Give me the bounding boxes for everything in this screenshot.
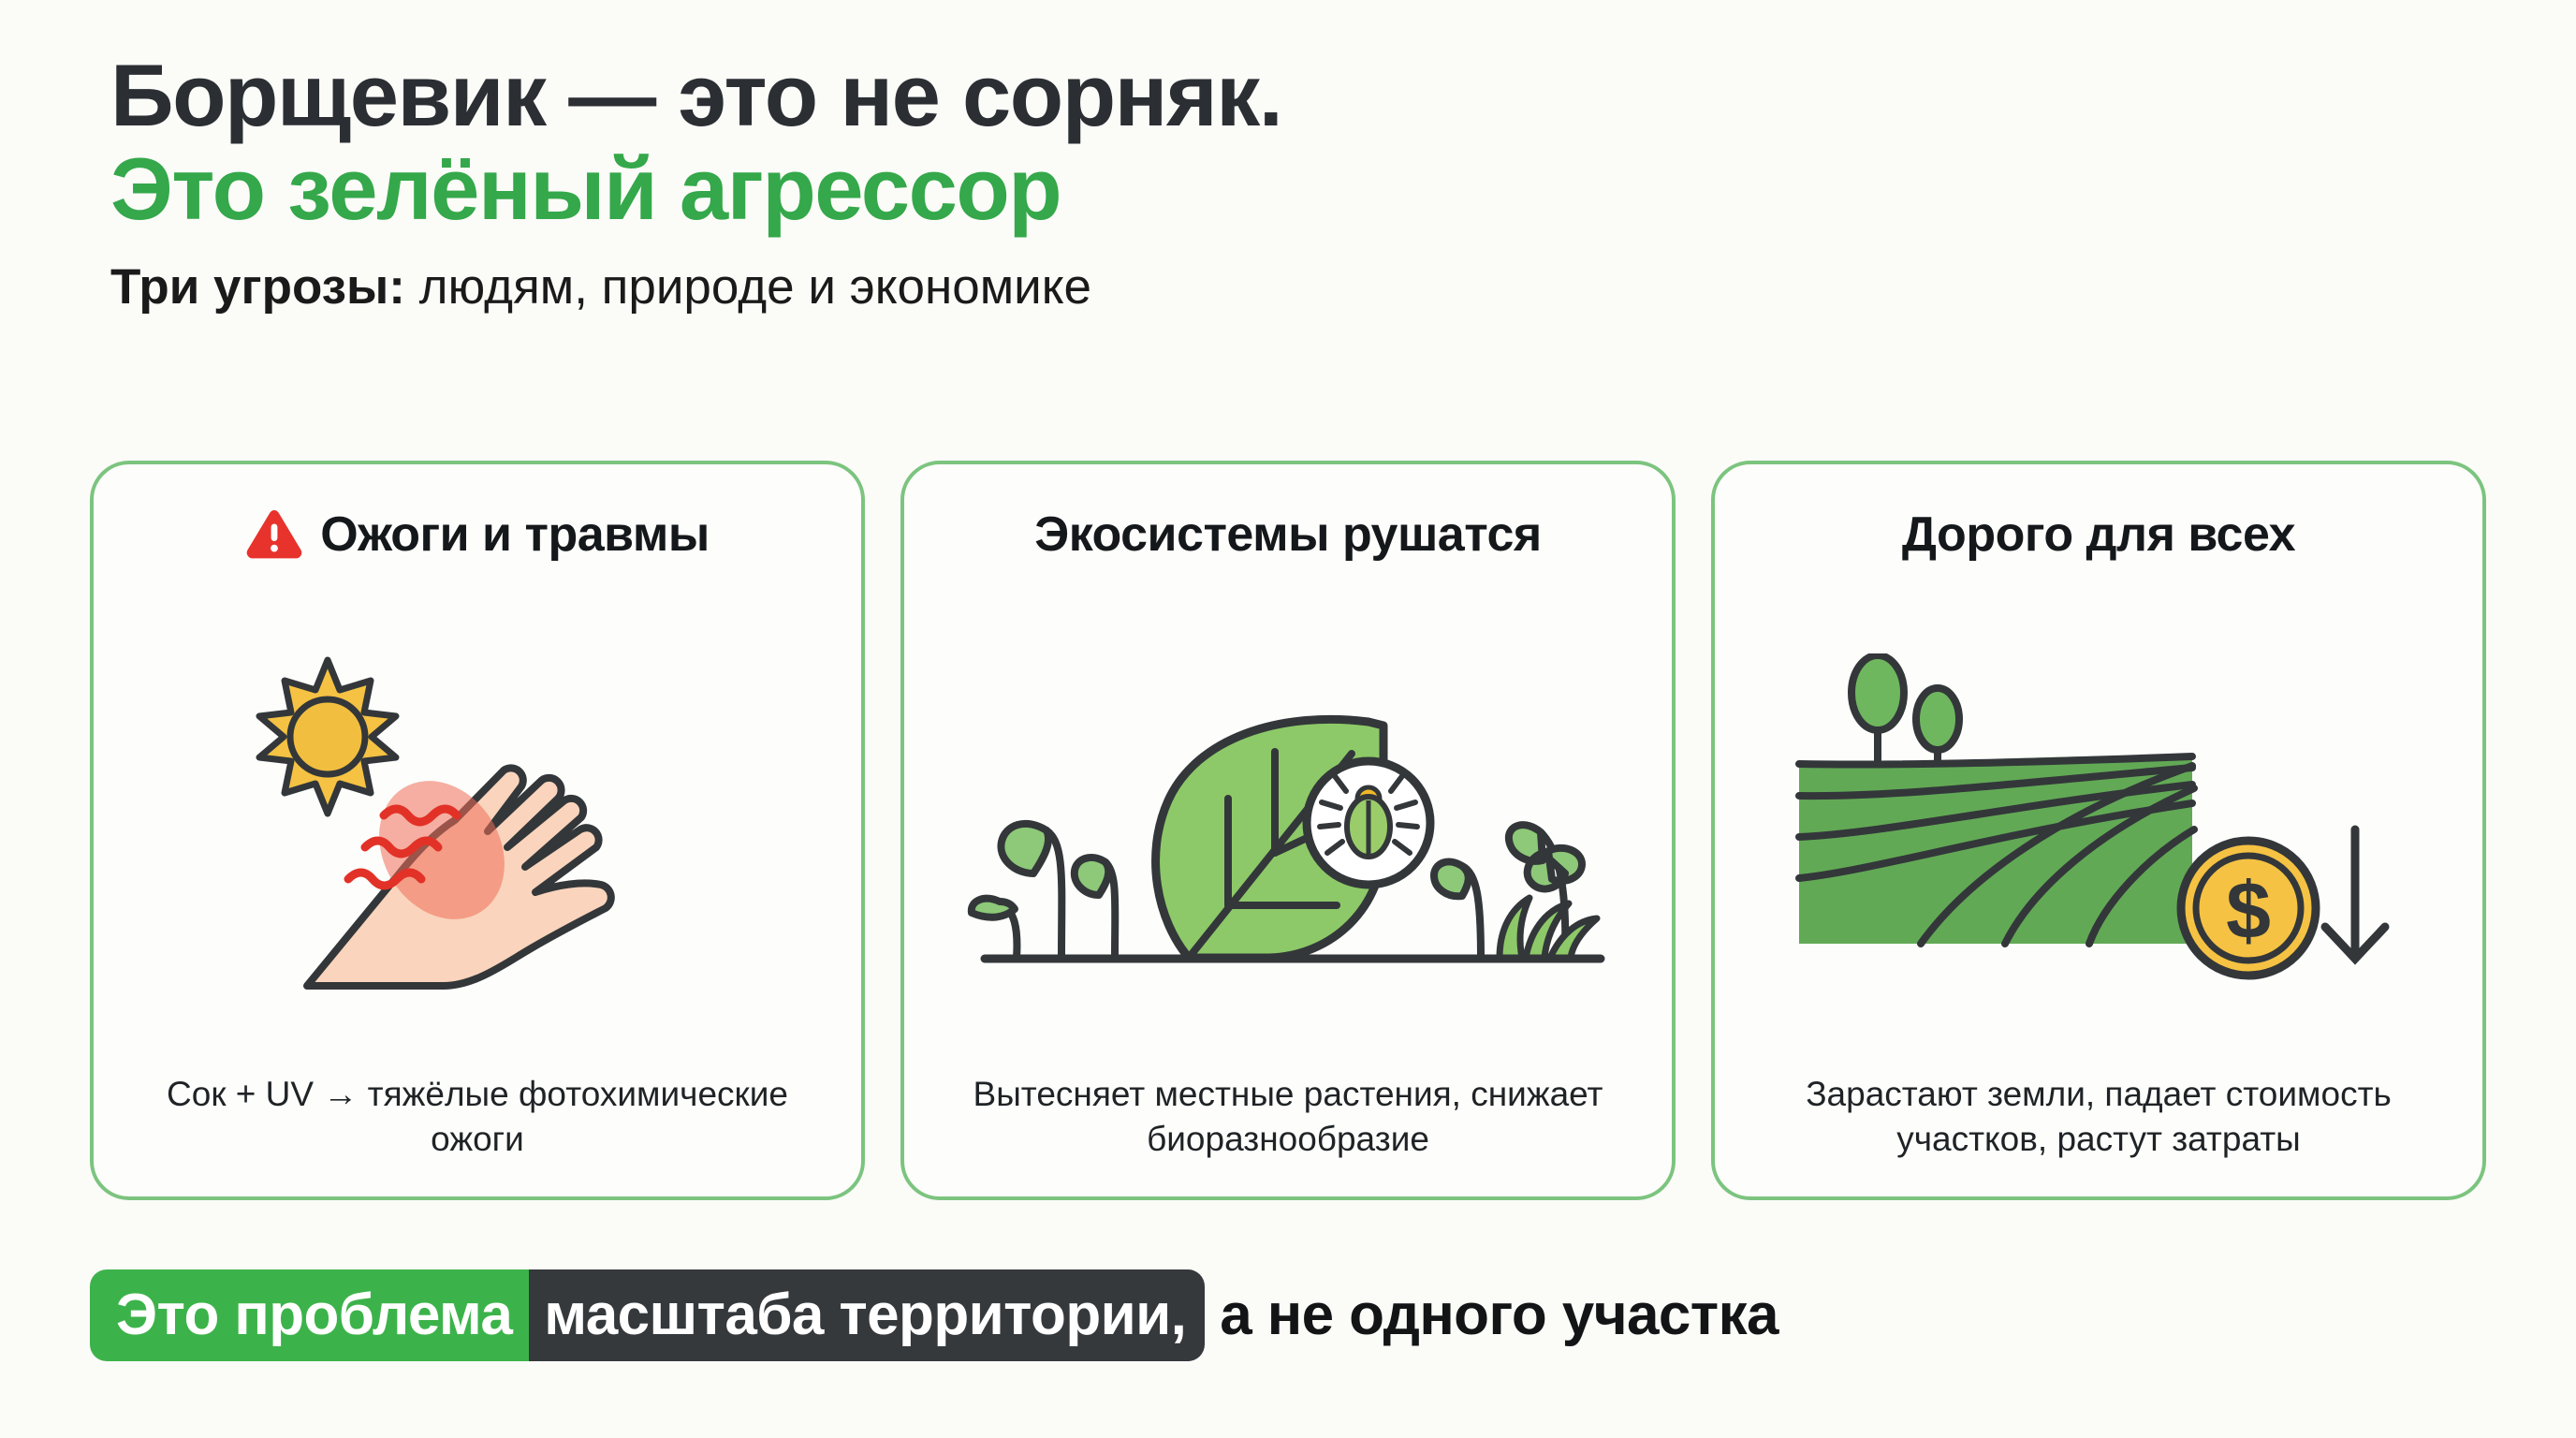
economy-art-svg: $: [1780, 653, 2417, 990]
fields-icon: [1799, 756, 2194, 944]
subtitle-strong: Три угрозы:: [110, 259, 405, 315]
sprout-leaf-icon: [1075, 858, 1109, 895]
ecosystem-art-svg: [960, 639, 1616, 1005]
farm-fields-coin-down-arrow-illustration: $: [1739, 571, 2458, 1072]
page-title-line-1: Борщевик — это не сорняк.: [110, 49, 2469, 142]
beetle-magnifier-icon: [1307, 761, 1430, 885]
banner-segment-green: Это проблема: [90, 1269, 529, 1361]
sprout-leaf-icon: [1001, 824, 1048, 873]
card-description: Зарастают земли, падает стоимость участк…: [1739, 1072, 2458, 1168]
sprout-leaf-icon: [972, 898, 1015, 917]
page-subtitle: Три угрозы: людям, природе и экономике: [110, 257, 2469, 317]
card-burns-and-injuries: Ожоги и травмы: [90, 461, 865, 1200]
grass-tuft-icon: [1500, 898, 1597, 958]
banner-segment-dark: масштаба территории,: [529, 1269, 1205, 1361]
card-title: Дорого для всех: [1902, 506, 2295, 563]
card-expensive-for-everyone: Дорого для всех: [1711, 461, 2486, 1200]
sun-icon: [259, 660, 396, 814]
card-header: Ожоги и травмы: [118, 498, 837, 571]
banner-segment-plain: а не одного участка: [1205, 1269, 1778, 1361]
card-header: Дорого для всех: [1739, 498, 2458, 571]
down-arrow-icon: [2325, 829, 2385, 959]
bottom-banner: Это проблема масштаба территории, а не о…: [90, 1269, 1778, 1361]
right-plants-icon: [1434, 825, 1597, 958]
card-title: Ожоги и травмы: [320, 506, 710, 563]
burn-art-svg: [234, 639, 721, 1005]
card-header: Экосистемы рушатся: [929, 498, 1647, 571]
sun-and-burned-hand-illustration: [118, 571, 837, 1072]
header: Борщевик — это не сорняк. Это зелёный аг…: [110, 49, 2469, 317]
card-description: Вытесняет местные растения, снижает биор…: [929, 1072, 1647, 1168]
coin-icon: $: [2181, 841, 2316, 976]
page-title-line-2: Это зелёный агрессор: [110, 142, 2469, 236]
leaf-with-beetle-magnifier-illustration: [929, 571, 1647, 1072]
card-description: Сок + UV → тяжёлые фотохимические ожоги: [118, 1072, 837, 1168]
svg-text:$: $: [2226, 866, 2271, 956]
infographic-page: Борщевик — это не сорняк. Это зелёный аг…: [0, 0, 2576, 1438]
card-title: Экосистемы рушатся: [1034, 506, 1542, 563]
warning-triangle-icon: [245, 508, 303, 561]
card-ecosystems-collapse: Экосистемы рушатся: [900, 461, 1676, 1200]
subtitle-rest: людям, природе и экономике: [405, 259, 1091, 315]
trees-icon: [1851, 655, 1959, 771]
threat-cards-row: Ожоги и травмы: [90, 461, 2486, 1200]
